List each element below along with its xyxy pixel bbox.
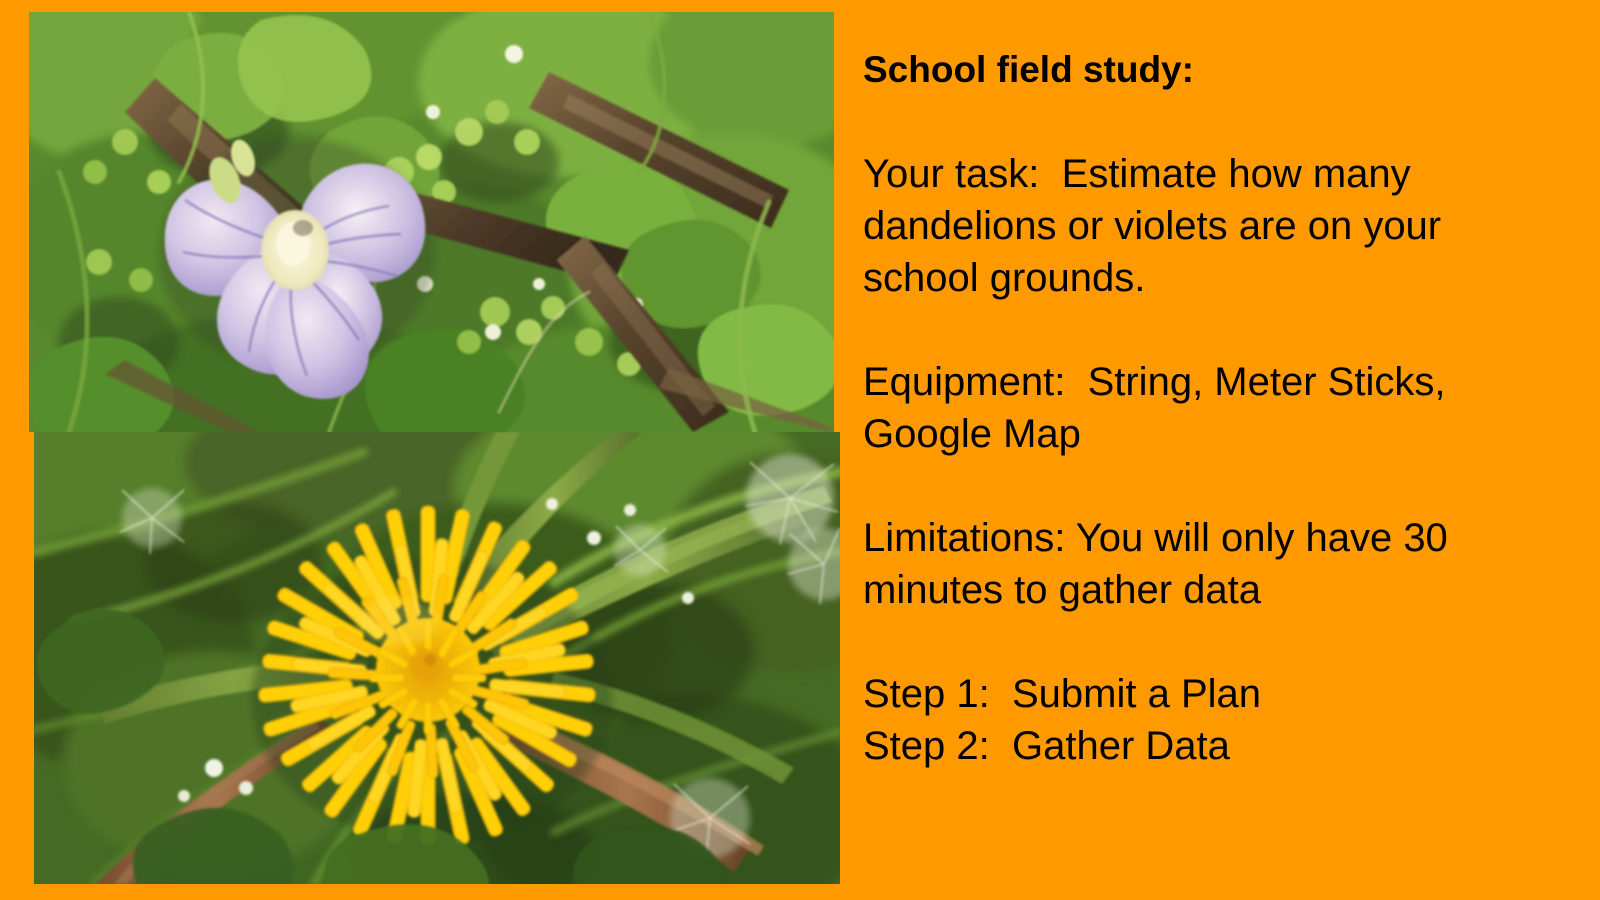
violet-photo-graphic — [29, 12, 834, 432]
equipment-line-1: Equipment: String, Meter Sticks, — [863, 356, 1553, 408]
page-title: School field study: — [863, 44, 1553, 96]
limitations-line-2: minutes to gather data — [863, 564, 1553, 616]
equipment-line-2: Google Map — [863, 408, 1553, 460]
slide-canvas: School field study: Your task: Estimate … — [0, 0, 1600, 900]
steps-paragraph: Step 1: Submit a Plan Step 2: Gather Dat… — [863, 668, 1553, 772]
task-spacer — [863, 304, 1553, 356]
equipment-spacer — [863, 460, 1553, 512]
limitations-paragraph: Limitations: You will only have 30 minut… — [863, 512, 1553, 616]
dandelion-photo-graphic — [34, 432, 840, 884]
step-2-line: Step 2: Gather Data — [863, 720, 1553, 772]
task-paragraph: Your task: Estimate how many dandelions … — [863, 148, 1553, 304]
step-1-line: Step 1: Submit a Plan — [863, 668, 1553, 720]
violet-flower-photo — [29, 12, 834, 432]
task-line-3: school grounds. — [863, 252, 1553, 304]
task-line-1: Your task: Estimate how many — [863, 148, 1553, 200]
dandelion-flower-photo — [34, 432, 840, 884]
limitations-line-1: Limitations: You will only have 30 — [863, 512, 1553, 564]
limitations-spacer — [863, 616, 1553, 668]
slide-text-column: School field study: Your task: Estimate … — [863, 44, 1553, 772]
title-spacer — [863, 96, 1553, 148]
task-line-2: dandelions or violets are on your — [863, 200, 1553, 252]
equipment-paragraph: Equipment: String, Meter Sticks, Google … — [863, 356, 1553, 460]
